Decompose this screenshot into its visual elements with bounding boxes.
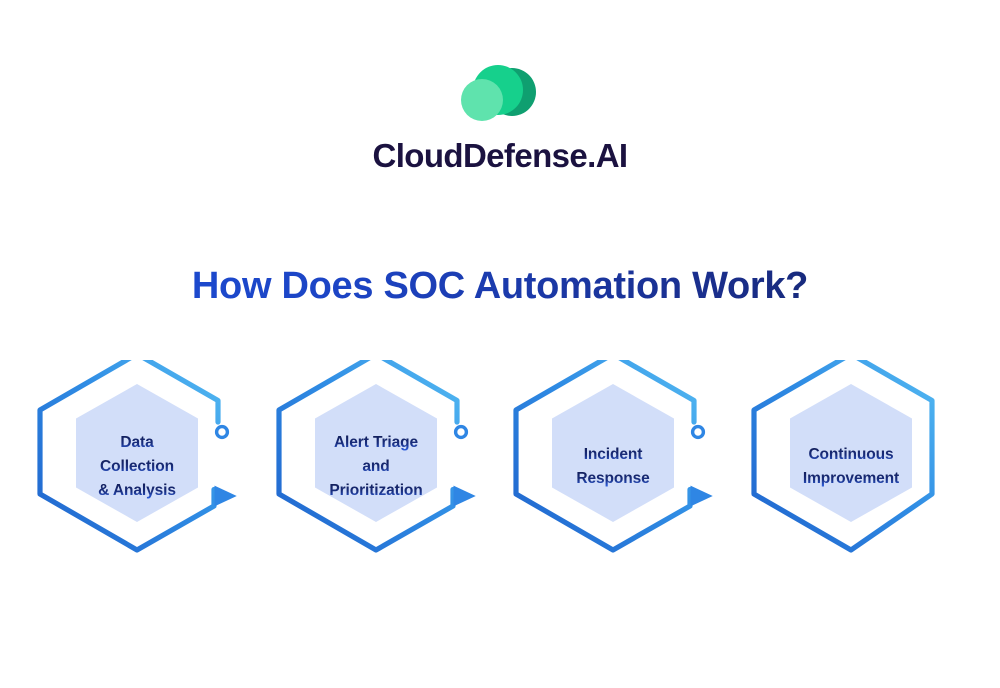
step-4-label-line-2: Improvement: [803, 470, 899, 487]
flow-step-1[interactable]: Data Collection & Analysis: [40, 360, 231, 550]
step-3-label-line-1: Incident: [584, 446, 643, 463]
step-4-label-line-1: Continuous: [808, 446, 893, 463]
step-2-label-line-1: Alert Triage: [334, 434, 419, 451]
step-3-label-line-2: Response: [576, 470, 650, 487]
step-2-node-dot-icon: [456, 427, 467, 438]
process-flow-diagram: Data Collection & Analysis Alert Triage …: [0, 360, 1000, 585]
step-2-label-line-2: and: [362, 458, 389, 475]
step-1-label-line-1: Data: [120, 434, 154, 451]
step-1-label-line-2: Collection: [100, 458, 174, 475]
step-3-node-dot-icon: [693, 427, 704, 438]
step-2-hexagon-fill: [315, 384, 437, 522]
brand-name: CloudDefense.AI: [0, 138, 1000, 174]
step-1-node-dot-icon: [217, 427, 228, 438]
cloud-circles-logo-icon: [454, 64, 546, 126]
infographic-canvas: CloudDefense.AI How Does SOC Automation …: [0, 0, 1000, 688]
step-2-label-line-3: Prioritization: [329, 482, 422, 499]
flow-svg: Data Collection & Analysis Alert Triage …: [0, 360, 1000, 585]
brand-block: CloudDefense.AI: [0, 64, 1000, 174]
step-1-hexagon-fill: [76, 384, 198, 522]
flow-step-2[interactable]: Alert Triage and Prioritization: [279, 360, 470, 550]
page-title: How Does SOC Automation Work?: [0, 264, 1000, 310]
flow-step-3[interactable]: Incident Response: [516, 360, 707, 550]
flow-step-4[interactable]: Continuous Improvement: [754, 360, 932, 550]
step-1-label-line-3: & Analysis: [98, 482, 176, 499]
